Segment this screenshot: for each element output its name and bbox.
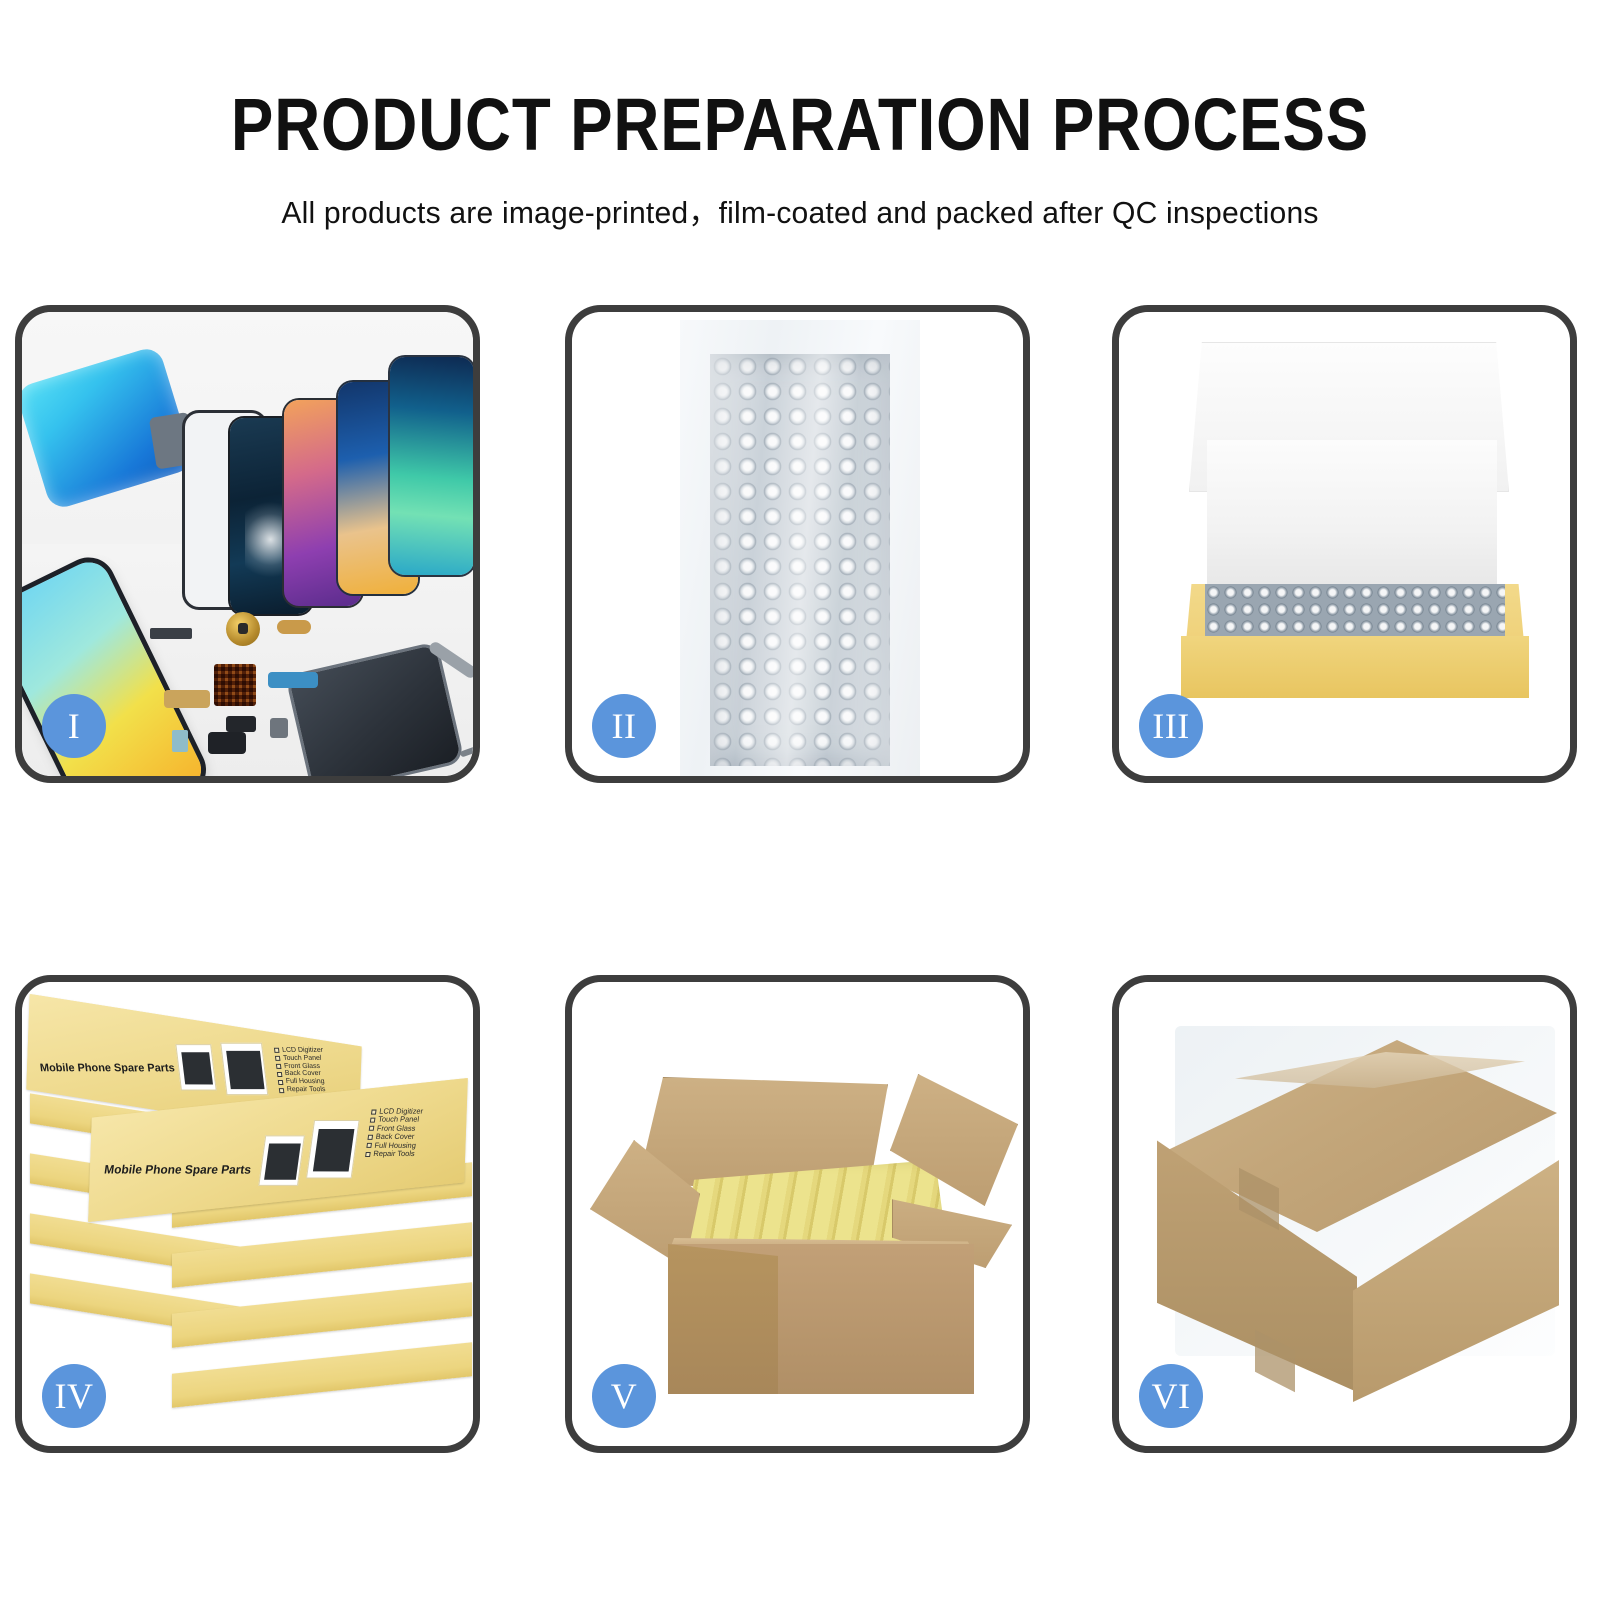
page-title: PRODUCT PREPARATION PROCESS: [112, 82, 1488, 167]
step-card-4: Mobile Phone Spare Parts LCD Digitizer T…: [15, 975, 480, 1453]
ic-chip-part: [214, 664, 256, 706]
checklist-item: LCD Digitizer: [282, 1047, 324, 1055]
bubble-wrapped-product: [1205, 584, 1505, 636]
camera-module-part: [270, 718, 288, 738]
mailer-box-tray-front: [1181, 636, 1529, 698]
speaker-part: [226, 716, 256, 732]
wireless-charging-coil-icon: [226, 612, 260, 646]
step-badge-2: II: [592, 694, 656, 758]
step-badge-5: V: [592, 1364, 656, 1428]
step-badge-6: VI: [1139, 1364, 1203, 1428]
step-badge-1: I: [42, 694, 106, 758]
header: PRODUCT PREPARATION PROCESS All products…: [0, 0, 1600, 232]
infographic-page: PRODUCT PREPARATION PROCESS All products…: [0, 0, 1600, 1600]
checklist-item: Full Housing: [286, 1078, 326, 1086]
flex-cable-part-2: [268, 672, 318, 688]
step-card-5: V: [565, 975, 1030, 1453]
step-card-6: VI: [1112, 975, 1577, 1453]
retail-box-checklist-rear: LCD Digitizer Touch Panel Front Glass Ba…: [274, 1047, 329, 1094]
retail-box-brand-rear: Mobile Phone Spare Parts: [39, 1062, 175, 1074]
step-card-2: II: [565, 305, 1030, 783]
plastic-shine-overlay: [710, 354, 890, 766]
mailer-box-liner: [1207, 440, 1497, 590]
vibrator-part: [208, 732, 246, 754]
retail-box-phone-image-front-b: [306, 1120, 360, 1179]
teal-screen-phone: [390, 357, 473, 575]
step-badge-3: III: [1139, 694, 1203, 758]
page-subtitle: All products are image-printed，film-coat…: [24, 187, 1576, 232]
checklist-item: Touch Panel: [283, 1055, 322, 1063]
sim-tray-part: [172, 730, 188, 752]
flex-cable-part-1: [277, 620, 311, 634]
step-card-3: III: [1112, 305, 1577, 783]
checklist-item: Repair Tools: [373, 1150, 415, 1158]
flex-cable-part-3: [164, 690, 210, 708]
carton-side-face: [668, 1244, 778, 1394]
retail-box-phone-image-rear-a: [175, 1044, 216, 1090]
retail-box-stack-right-3: [172, 1282, 472, 1348]
retail-box-checklist-front: LCD Digitizer Touch Panel Front Glass Ba…: [365, 1108, 424, 1159]
retail-box-phone-image-front-a: [258, 1135, 305, 1185]
retail-box-brand-front: Mobile Phone Spare Parts: [103, 1162, 252, 1176]
step-card-1: I: [15, 305, 480, 783]
retail-box-phone-image-rear-b: [220, 1043, 268, 1095]
checklist-item: Front Glass: [284, 1063, 321, 1071]
retail-box-stack-right-2: [172, 1222, 472, 1288]
connector-bar-part: [150, 628, 192, 639]
checklist-item: Back Cover: [285, 1070, 322, 1078]
retail-box-stack-right-4: [172, 1342, 472, 1408]
step-badge-4: IV: [42, 1364, 106, 1428]
